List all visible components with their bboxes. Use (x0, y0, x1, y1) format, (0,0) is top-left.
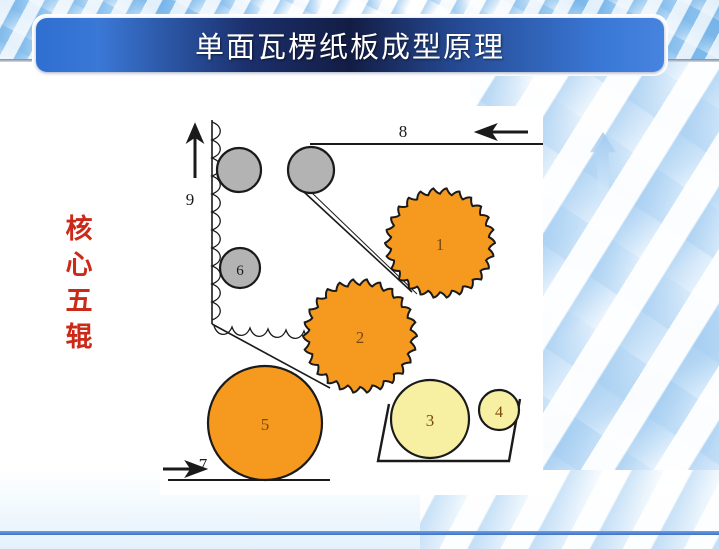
slide-canvas: 单面瓦楞纸板成型原理 核 心 五 辊 (0, 0, 719, 549)
flow-7-label: 7 (199, 455, 208, 474)
title-banner: 单面瓦楞纸板成型原理 (36, 18, 664, 72)
part-1-label: 1 (436, 235, 445, 254)
vertical-caption-char-3: 五 (58, 284, 100, 320)
part-3: 3 (391, 380, 469, 458)
corrugator-diagram: 6 1 2 5 3 (160, 106, 543, 495)
part-6-label: 6 (236, 263, 244, 279)
footer-rule (0, 531, 719, 535)
part-2: 2 (303, 279, 417, 392)
part-5: 5 (208, 366, 322, 480)
page-title: 单面瓦楞纸板成型原理 (195, 24, 505, 66)
roller-gray-top-right (288, 147, 334, 193)
flutes-vertical (212, 122, 220, 320)
part-6: 6 (220, 248, 260, 288)
flow-9: 9 (186, 126, 201, 209)
arrow-up-icon (189, 126, 201, 178)
roller-gray-top-right-body (288, 147, 334, 193)
flow-8-label: 8 (399, 122, 408, 141)
header-rule-right (666, 59, 719, 62)
flow-9-label: 9 (186, 190, 195, 209)
part-3-label: 3 (426, 411, 435, 430)
diagram-panel: 6 1 2 5 3 (160, 106, 543, 495)
vertical-caption-char-1: 核 (58, 212, 100, 248)
header-rule-left (0, 59, 34, 62)
part-4-label: 4 (495, 404, 503, 421)
roller-gray-top-left (217, 148, 261, 192)
part-4: 4 (479, 390, 519, 430)
flow-8: 8 (399, 122, 528, 141)
part-5-label: 5 (261, 415, 270, 434)
part-1: 1 (385, 188, 495, 297)
vertical-caption-char-4: 辊 (58, 320, 100, 356)
vertical-caption-char-2: 心 (58, 248, 100, 284)
arrow-left-icon (478, 126, 528, 138)
vertical-caption: 核 心 五 辊 (58, 212, 100, 356)
roller-gray-top-left-body (217, 148, 261, 192)
flow-7: 7 (163, 455, 208, 475)
part-2-label: 2 (356, 328, 365, 347)
